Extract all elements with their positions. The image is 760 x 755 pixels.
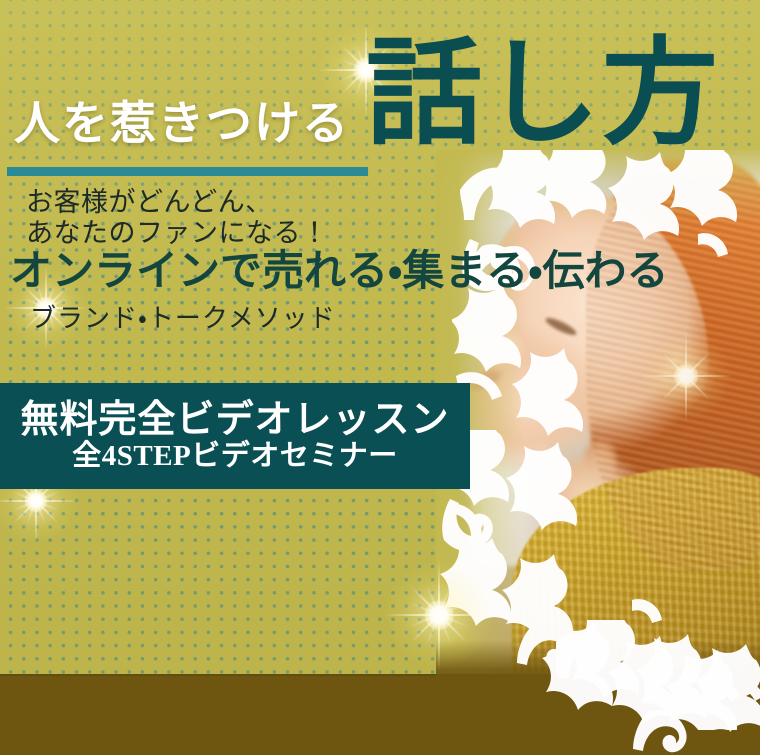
promo-banner: 話し方 人を惹きつける お客様がどんどん、 あなたのファンになる！ オンラインで… xyxy=(0,0,760,755)
underline-rule xyxy=(7,167,368,176)
photo-edge-fade xyxy=(436,150,760,678)
bottom-strip xyxy=(0,674,760,755)
photo-bottom-fade xyxy=(436,640,760,682)
hero-photo xyxy=(436,150,760,678)
method-name: ブランド・トークメソッド xyxy=(30,306,336,332)
bold-value-line: オンラインで売れる・集まる・伝わる xyxy=(10,250,669,292)
cta-banner[interactable]: 無料完全ビデオレッスン 全4STEPビデオセミナー xyxy=(0,383,470,489)
headline-main: 話し方 xyxy=(366,36,720,152)
photo-layers xyxy=(436,150,760,678)
cta-headline: 無料完全ビデオレッスン xyxy=(20,400,449,440)
headline-sub: 人を惹きつける xyxy=(14,100,350,146)
cta-subline: 全4STEPビデオセミナー xyxy=(72,441,398,471)
